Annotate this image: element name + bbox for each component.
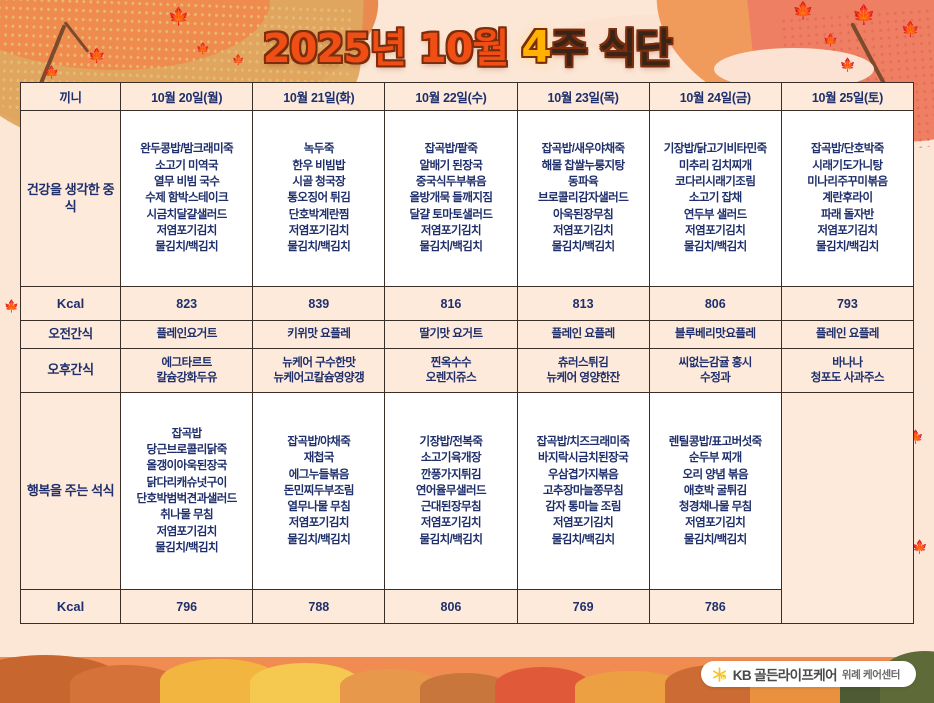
header-meal-label: 끼니 <box>21 83 121 111</box>
table-row-lunch-kcal: Kcal 823 839 816 813 806 793 <box>21 287 914 321</box>
bush-shape <box>160 659 280 703</box>
footer-logo: b KB 골든라이프케어 위례 케어센터 <box>701 661 916 687</box>
rowlabel-lunch-kcal: Kcal <box>21 287 121 321</box>
lunch-kcal-mon: 823 <box>121 287 253 321</box>
snack-am-sat: 플레인 요플레 <box>781 321 913 349</box>
page-title: 2025년 10월 4주 식단 <box>263 16 671 74</box>
lunch-cell-sat: 잡곡밥/단호박죽 시래기도가니탕 미나리주꾸미볶음 계란후라이 파래 돌자반 저… <box>781 111 913 287</box>
bush-shape <box>420 673 510 703</box>
header-day-sat: 10월 25일(토) <box>781 83 913 111</box>
snack-pm-sat: 바나나 청포도 사과주스 <box>781 349 913 393</box>
dinner-cell-thu: 잡곡밥/치즈크래미죽 바지락시금치된장국 우삼겹가지볶음 고추장마늘쫑무침 감자… <box>517 393 649 590</box>
snack-am-wed: 딸기맛 요거트 <box>385 321 517 349</box>
meal-plan-table: 끼니 10월 20일(월) 10월 21일(화) 10월 22일(수) 10월 … <box>20 82 914 624</box>
table-header-row: 끼니 10월 20일(월) 10월 21일(화) 10월 22일(수) 10월 … <box>21 83 914 111</box>
snack-am-tue: 키위맛 요플레 <box>253 321 385 349</box>
rowlabel-snack-am: 오전간식 <box>21 321 121 349</box>
snack-am-thu: 플레인 요플레 <box>517 321 649 349</box>
bush-shape <box>495 667 590 703</box>
snack-pm-tue: 뉴케어 구수한맛 뉴케어고칼슘영양갱 <box>253 349 385 393</box>
dinner-cell-wed: 기장밥/전복죽 소고기육개장 깐풍가지튀김 연어율무샐러드 근대된장무침 저염포… <box>385 393 517 590</box>
dinner-cell-tue: 잡곡밥/야채죽 재첩국 에그누들볶음 돈민찌두부조림 열무나물 무침 저염포기김… <box>253 393 385 590</box>
lunch-kcal-wed: 816 <box>385 287 517 321</box>
dinner-kcal-wed: 806 <box>385 590 517 624</box>
lunch-kcal-sat: 793 <box>781 287 913 321</box>
maple-leaf-icon: 🍁 <box>4 300 19 312</box>
table-row-dinner-kcal: Kcal 796 788 806 769 786 <box>21 590 914 624</box>
lunch-cell-thu: 잡곡밥/새우야채죽 해물 찹쌀누룽지탕 동파육 브로콜리감자샐러드 아욱된장무침… <box>517 111 649 287</box>
snack-pm-mon: 에그타르트 칼슘강화두유 <box>121 349 253 393</box>
rowlabel-dinner: 행복을 주는 석식 <box>21 393 121 590</box>
header-day-tue: 10월 21일(화) <box>253 83 385 111</box>
header-day-fri: 10월 24일(금) <box>649 83 781 111</box>
bush-shape <box>575 671 685 703</box>
dinner-kcal-tue: 788 <box>253 590 385 624</box>
maple-leaf-icon: 🍁 <box>912 540 928 553</box>
dinner-cell-mon: 잡곡밥 당근브로콜리닭죽 올갱이아욱된장국 닭다리캐슈넛구이 단호박범벅견과샐러… <box>121 393 253 590</box>
table-row-snack-pm: 오후간식 에그타르트 칼슘강화두유 뉴케어 구수한맛 뉴케어고칼슘영양갱 찐옥수… <box>21 349 914 393</box>
table-row-snack-am: 오전간식 플레인요거트 키위맛 요플레 딸기맛 요거트 플레인 요플레 블루베리… <box>21 321 914 349</box>
rowlabel-lunch: 건강을 생각한 중식 <box>21 111 121 287</box>
bush-shape <box>0 655 120 703</box>
bush-shape <box>340 669 440 703</box>
footer-brand-name: KB 골든라이프케어 <box>733 664 837 684</box>
page-title-wrap: 2025년 10월 4주 식단 <box>0 16 934 74</box>
snack-pm-fri: 씨없는감귤 홍시 수정과 <box>649 349 781 393</box>
lunch-cell-tue: 녹두죽 한우 비빔밥 시골 청국장 통오징어 튀김 단호박계란찜 저염포기김치 … <box>253 111 385 287</box>
kb-star-icon: b <box>711 666 728 683</box>
lunch-kcal-fri: 806 <box>649 287 781 321</box>
title-suffix: 주 식단 <box>551 26 671 72</box>
bush-shape <box>70 665 180 703</box>
rowlabel-snack-pm: 오후간식 <box>21 349 121 393</box>
snack-am-mon: 플레인요거트 <box>121 321 253 349</box>
dinner-kcal-mon: 796 <box>121 590 253 624</box>
table-row-lunch: 건강을 생각한 중식 완두콩밥/밤크래미죽 소고기 미역국 열무 비빔 국수 수… <box>21 111 914 287</box>
header-day-mon: 10월 20일(월) <box>121 83 253 111</box>
footer-center-name: 위례 케어센터 <box>842 667 900 682</box>
dinner-cell-fri: 렌틸콩밥/표고버섯죽 순두부 찌개 오리 양념 볶음 애호박 굴튀김 청경채나물… <box>649 393 781 590</box>
snack-am-fri: 블루베리맛요플레 <box>649 321 781 349</box>
meal-plan-page: 🍁 🍁 🍁 🍁 🍁 🍁 🍁 🍁 🍁 🍁 🍁 🍁 🍁 2025년 10월 4주 식… <box>0 0 934 703</box>
bush-shape <box>250 663 360 703</box>
dinner-kcal-fri: 786 <box>649 590 781 624</box>
snack-pm-thu: 츄러스튀김 뉴케어 영양한잔 <box>517 349 649 393</box>
title-prefix: 2025년 10월 <box>263 26 521 72</box>
snack-pm-wed: 찐옥수수 오렌지쥬스 <box>385 349 517 393</box>
header-day-thu: 10월 23일(목) <box>517 83 649 111</box>
header-day-wed: 10월 22일(수) <box>385 83 517 111</box>
lunch-cell-wed: 잡곡밥/팥죽 알배기 된장국 중국식두부볶음 올방개묵 들깨지짐 달걀 토마토샐… <box>385 111 517 287</box>
lunch-cell-fri: 기장밥/닭고기비타민죽 미추리 김치찌개 코다리시래기조림 소고기 잡채 연두부… <box>649 111 781 287</box>
lunch-kcal-tue: 839 <box>253 287 385 321</box>
dinner-kcal-thu: 769 <box>517 590 649 624</box>
table-row-dinner: 행복을 주는 석식 잡곡밥 당근브로콜리닭죽 올갱이아욱된장국 닭다리캐슈넛구이… <box>21 393 914 590</box>
lunch-kcal-thu: 813 <box>517 287 649 321</box>
rowlabel-dinner-kcal: Kcal <box>21 590 121 624</box>
title-week-number: 4 <box>521 22 551 73</box>
lunch-cell-mon: 완두콩밥/밤크래미죽 소고기 미역국 열무 비빔 국수 수제 함박스테이크 시금… <box>121 111 253 287</box>
dinner-cell-sat-empty <box>781 393 913 624</box>
